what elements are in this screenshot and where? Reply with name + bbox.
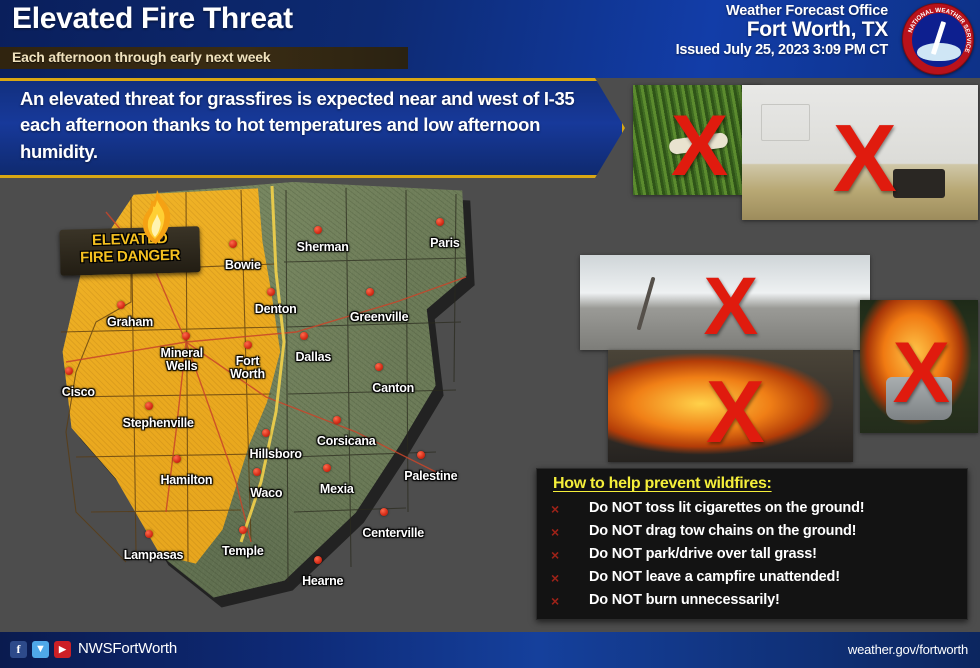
city-marker	[417, 451, 425, 459]
tow-chain-photo	[580, 255, 870, 350]
city-label: Denton	[255, 303, 297, 316]
badge-line-2: FIRE DANGER	[60, 247, 200, 267]
prevention-tips-box: How to help prevent wildfires: ×Do NOT t…	[536, 468, 968, 620]
campfire-photo	[608, 350, 853, 462]
photo-image	[742, 85, 978, 220]
header-bar: Elevated Fire Threat Each afternoon thro…	[0, 0, 980, 78]
prevention-tip-row: ×Do NOT burn unnecessarily!	[551, 591, 961, 613]
city-label: Bowie	[225, 259, 261, 272]
city-marker	[239, 526, 247, 534]
photo-image	[608, 350, 853, 462]
city-label: Palestine	[404, 470, 457, 483]
prevention-tip-text: Do NOT toss lit cigarettes on the ground…	[589, 500, 864, 516]
city-label: Canton	[372, 382, 414, 395]
photo-image	[860, 300, 978, 433]
tip-x-icon: ×	[551, 547, 559, 563]
city-label: Graham	[107, 316, 153, 329]
prevention-title: How to help prevent wildfires:	[553, 475, 772, 493]
prevention-tip-text: Do NOT leave a campfire unattended!	[589, 569, 840, 585]
city-marker	[145, 530, 153, 538]
city-marker	[117, 301, 125, 309]
city-label: Corsicana	[317, 435, 376, 448]
city-label: Sherman	[297, 241, 349, 254]
tip-x-icon: ×	[551, 501, 559, 517]
prevention-tip-text: Do NOT burn unnecessarily!	[589, 592, 780, 608]
tip-x-icon: ×	[551, 593, 559, 609]
city-label: Temple	[222, 545, 264, 558]
city-marker	[253, 468, 261, 476]
city-marker	[375, 363, 383, 371]
city-label: Waco	[250, 487, 282, 500]
page-subtitle: Each afternoon through early next week	[12, 49, 270, 65]
burn-barrel-photo	[860, 300, 978, 433]
office-label: Weather Forecast Office	[676, 3, 888, 19]
city-label: Centerville	[362, 527, 424, 540]
city-label: Hearne	[302, 575, 343, 588]
city-marker	[314, 226, 322, 234]
office-city: Fort Worth, TX	[676, 18, 888, 42]
flame-icon	[132, 188, 182, 246]
city-marker	[333, 416, 341, 424]
city-marker	[366, 288, 374, 296]
city-marker	[436, 218, 444, 226]
city-label: Hillsboro	[250, 448, 302, 461]
city-marker	[182, 332, 190, 340]
footer-bar: f ▼ ▶ NWSFortWorth weather.gov/fortworth	[0, 632, 980, 668]
city-marker	[267, 288, 275, 296]
office-info: Weather Forecast Office Fort Worth, TX I…	[676, 3, 888, 58]
prevention-tip-text: Do NOT park/drive over tall grass!	[589, 546, 817, 562]
facebook-icon[interactable]: f	[10, 641, 27, 658]
city-label: Dallas	[295, 351, 331, 364]
footer-url[interactable]: weather.gov/fortworth	[848, 642, 968, 657]
city-marker	[323, 464, 331, 472]
youtube-icon[interactable]: ▶	[54, 641, 71, 658]
city-label: Hamilton	[160, 474, 212, 487]
seal-ring-text: NATIONAL WEATHER SERVICE	[903, 4, 975, 76]
city-marker	[314, 556, 322, 564]
page-title: Elevated Fire Threat	[12, 2, 293, 36]
photo-image	[580, 255, 870, 350]
city-marker	[65, 367, 73, 375]
city-marker	[300, 332, 308, 340]
city-marker	[262, 429, 270, 437]
prevention-tip-row: ×Do NOT drag tow chains on the ground!	[551, 522, 961, 544]
city-label: Stephenville	[123, 417, 194, 430]
city-label: Paris	[430, 237, 460, 250]
city-label: FortWorth	[230, 355, 265, 381]
city-marker	[145, 402, 153, 410]
city-marker	[244, 341, 252, 349]
twitter-icon[interactable]: ▼	[32, 641, 49, 658]
vehicle-over-grass-photo	[742, 85, 978, 220]
city-label: Lampasas	[124, 549, 184, 562]
city-marker	[229, 240, 237, 248]
city-label: MineralWells	[161, 347, 203, 373]
svg-text:NATIONAL WEATHER SERVICE: NATIONAL WEATHER SERVICE	[907, 7, 972, 54]
city-label: Mexia	[320, 483, 354, 496]
tip-x-icon: ×	[551, 570, 559, 586]
city-label: Cisco	[62, 386, 95, 399]
prevention-tip-row: ×Do NOT toss lit cigarettes on the groun…	[551, 499, 961, 521]
prevention-tip-row: ×Do NOT leave a campfire unattended!	[551, 568, 961, 590]
city-label: Greenville	[350, 311, 408, 324]
tip-x-icon: ×	[551, 524, 559, 540]
nws-seal-icon: NATIONAL WEATHER SERVICE	[902, 3, 974, 75]
issued-timestamp: Issued July 25, 2023 3:09 PM CT	[676, 42, 888, 58]
prevention-tip-row: ×Do NOT park/drive over tall grass!	[551, 545, 961, 567]
fire-threat-map: ELEVATED FIRE DANGER BowieShermanParisDe…	[36, 182, 506, 622]
city-marker	[173, 455, 181, 463]
prevention-tip-text: Do NOT drag tow chains on the ground!	[589, 523, 856, 539]
social-handle[interactable]: NWSFortWorth	[78, 640, 177, 657]
city-marker	[380, 508, 388, 516]
message-text: An elevated threat for grassfires is exp…	[20, 86, 600, 165]
infographic-root: Elevated Fire Threat Each afternoon thro…	[0, 0, 980, 668]
